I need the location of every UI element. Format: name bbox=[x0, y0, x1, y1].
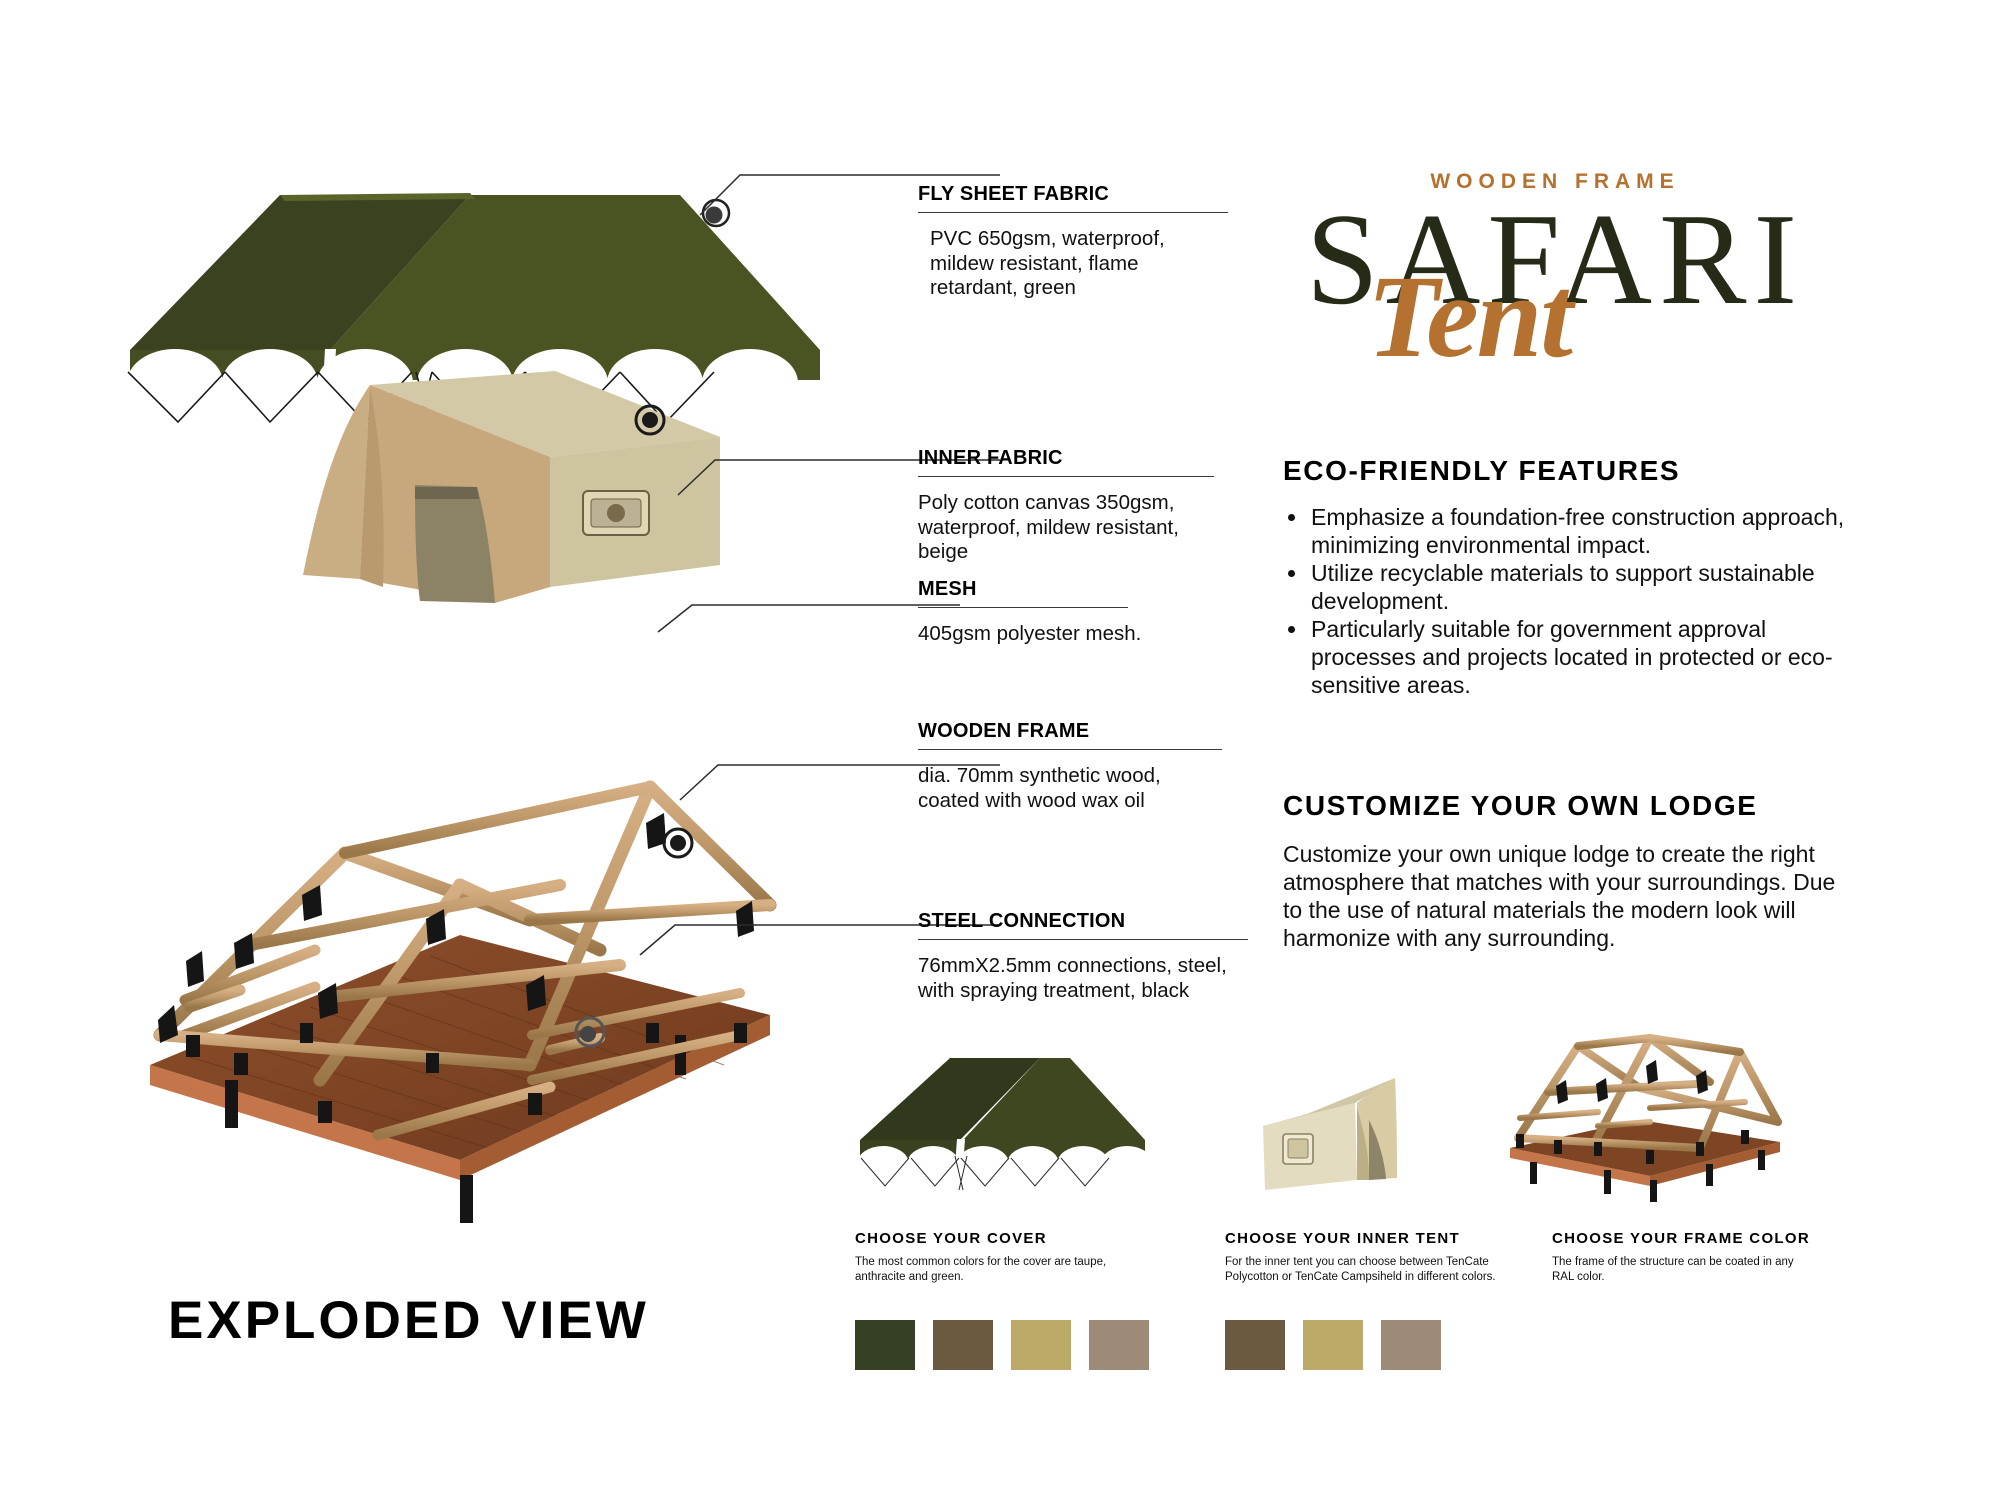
callout-fly-sheet-fabric: FLY SHEET FABRIC PVC 650gsm, waterproof,… bbox=[918, 183, 1238, 301]
brand-lockup: WOODEN FRAME SAFARI Tent bbox=[1255, 170, 1855, 390]
color-swatch[interactable] bbox=[1225, 1320, 1285, 1370]
cover-swatch-row bbox=[855, 1320, 1155, 1370]
color-swatch[interactable] bbox=[1303, 1320, 1363, 1370]
callout-rule bbox=[918, 476, 1214, 477]
color-swatch[interactable] bbox=[1089, 1320, 1149, 1370]
callout-body: PVC 650gsm, waterproof, mildew resistant… bbox=[918, 227, 1202, 301]
option-description: For the inner tent you can choose betwee… bbox=[1225, 1255, 1515, 1285]
exploded-view-title: EXPLODED VIEW bbox=[168, 1290, 649, 1351]
list-item: Emphasize a foundation-free construction… bbox=[1309, 503, 1853, 559]
callout-body: 405gsm polyester mesh. bbox=[918, 622, 1218, 647]
color-swatch[interactable] bbox=[855, 1320, 915, 1370]
customize-lodge-section: CUSTOMIZE YOUR OWN LODGE Customize your … bbox=[1283, 790, 1843, 952]
option-description: The frame of the structure can be coated… bbox=[1552, 1255, 1802, 1285]
callout-inner-fabric: INNER FABRIC Poly cotton canvas 350gsm, … bbox=[918, 447, 1248, 565]
callout-title: FLY SHEET FABRIC bbox=[918, 183, 1238, 206]
inner-tent-swatch-row bbox=[1225, 1320, 1525, 1370]
callout-steel-connection: STEEL CONNECTION 76mmX2.5mm connections,… bbox=[918, 910, 1258, 1003]
inner-tent-thumbnail-illustration bbox=[1245, 1048, 1455, 1198]
callout-rule bbox=[918, 607, 1128, 608]
list-item: Particularly suitable for government app… bbox=[1309, 615, 1853, 699]
option-block-cover: CHOOSE YOUR COVER The most common colors… bbox=[855, 1230, 1155, 1370]
callout-rule bbox=[918, 939, 1248, 940]
product-spec-sheet: FLY SHEET FABRIC PVC 650gsm, waterproof,… bbox=[0, 0, 2000, 1500]
section-heading: CUSTOMIZE YOUR OWN LODGE bbox=[1283, 790, 1843, 822]
option-block-frame-color: CHOOSE YOUR FRAME COLOR The frame of the… bbox=[1552, 1230, 1852, 1285]
list-item: Utilize recyclable materials to support … bbox=[1309, 559, 1853, 615]
option-heading: CHOOSE YOUR COVER bbox=[855, 1230, 1155, 1247]
callout-title: WOODEN FRAME bbox=[918, 720, 1248, 743]
section-heading: ECO-FRIENDLY FEATURES bbox=[1283, 455, 1853, 487]
callout-title: STEEL CONNECTION bbox=[918, 910, 1258, 933]
frame-thumbnail-illustration bbox=[1500, 1030, 1790, 1200]
brand-script-word: Tent bbox=[1367, 258, 1571, 376]
callout-body: dia. 70mm synthetic wood, coated with wo… bbox=[918, 764, 1218, 813]
callout-rule bbox=[918, 212, 1228, 213]
callout-title: MESH bbox=[918, 578, 1248, 601]
eco-friendly-features-section: ECO-FRIENDLY FEATURES Emphasize a founda… bbox=[1283, 455, 1853, 699]
option-block-inner-tent: CHOOSE YOUR INNER TENT For the inner ten… bbox=[1225, 1230, 1525, 1370]
callout-title: INNER FABRIC bbox=[918, 447, 1248, 470]
color-swatch[interactable] bbox=[1381, 1320, 1441, 1370]
callout-body: Poly cotton canvas 350gsm, waterproof, m… bbox=[918, 491, 1218, 565]
callout-wooden-frame: WOODEN FRAME dia. 70mm synthetic wood, c… bbox=[918, 720, 1248, 813]
option-heading: CHOOSE YOUR FRAME COLOR bbox=[1552, 1230, 1852, 1247]
option-heading: CHOOSE YOUR INNER TENT bbox=[1225, 1230, 1525, 1247]
color-swatch[interactable] bbox=[1011, 1320, 1071, 1370]
eco-feature-list: Emphasize a foundation-free construction… bbox=[1283, 503, 1853, 699]
callout-mesh: MESH 405gsm polyester mesh. bbox=[918, 578, 1248, 647]
color-swatch[interactable] bbox=[933, 1320, 993, 1370]
cover-thumbnail-illustration bbox=[855, 1040, 1155, 1190]
callout-rule bbox=[918, 749, 1222, 750]
option-description: The most common colors for the cover are… bbox=[855, 1255, 1133, 1285]
callout-body: 76mmX2.5mm connections, steel, with spra… bbox=[918, 954, 1230, 1003]
section-paragraph: Customize your own unique lodge to creat… bbox=[1283, 840, 1843, 952]
